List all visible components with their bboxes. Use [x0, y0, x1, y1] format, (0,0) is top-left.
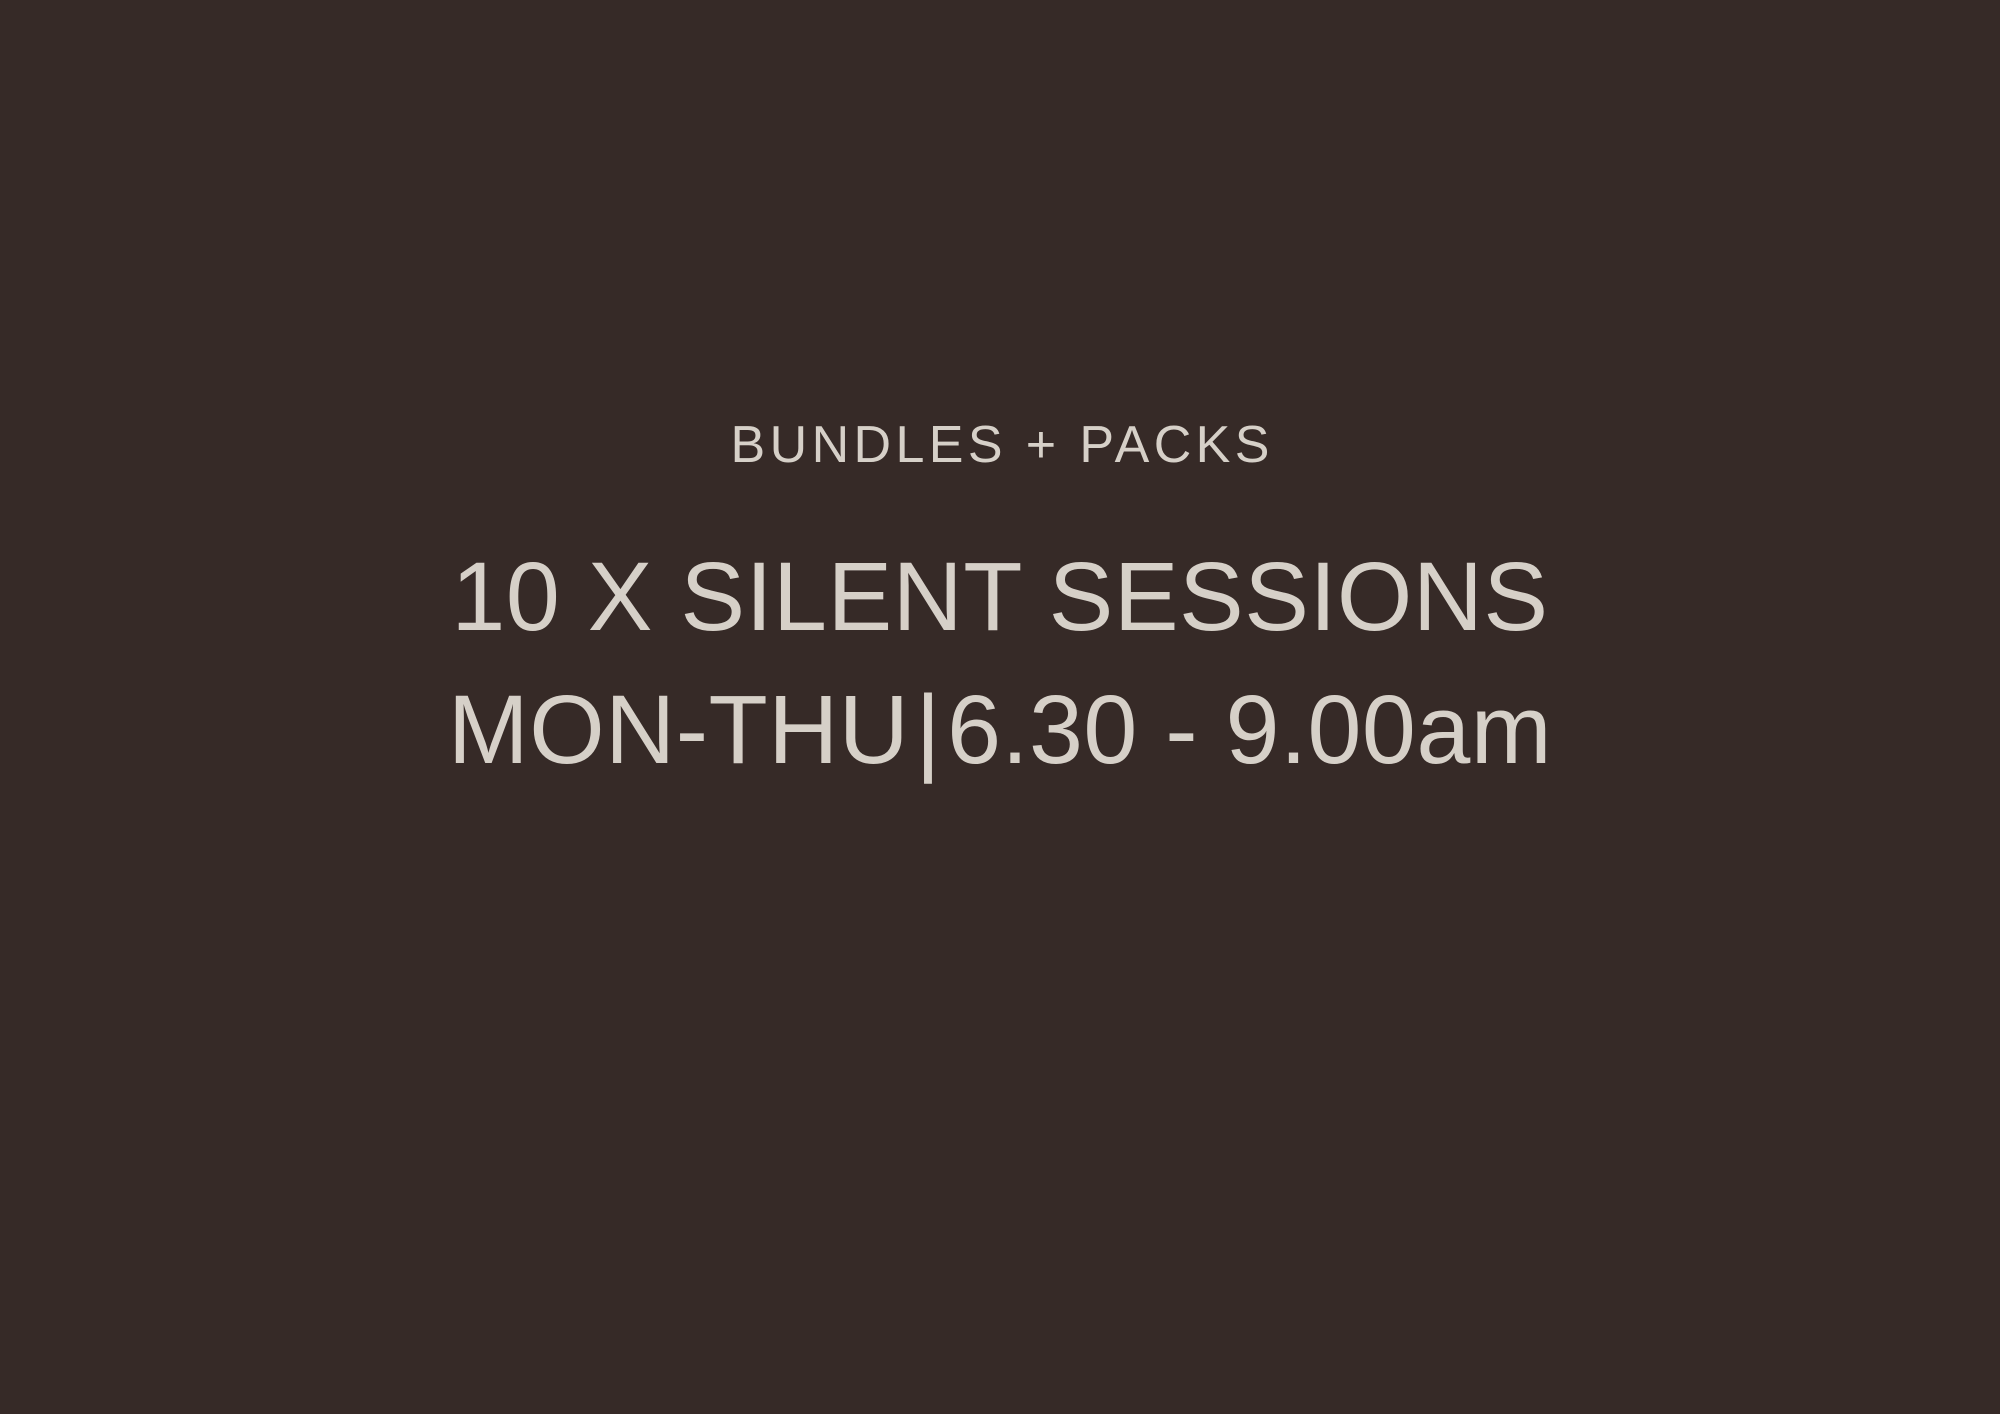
promo-card: BUNDLES + PACKS 10 X SILENT SESSIONS MON… — [0, 0, 2000, 1414]
promo-schedule-time-range: 6.30 - 9.00am — [947, 675, 1552, 784]
promo-eyebrow: BUNDLES + PACKS — [726, 419, 1274, 471]
promo-schedule-days: MON-THU — [448, 675, 909, 784]
promo-headline-line-2: MON-THU|6.30 - 9.00am — [448, 663, 1552, 796]
promo-content: BUNDLES + PACKS 10 X SILENT SESSIONS MON… — [0, 0, 2000, 1414]
promo-schedule-separator: | — [909, 675, 947, 784]
promo-headline: 10 X SILENT SESSIONS MON-THU|6.30 - 9.00… — [448, 530, 1552, 796]
promo-headline-line-1: 10 X SILENT SESSIONS — [448, 530, 1552, 663]
